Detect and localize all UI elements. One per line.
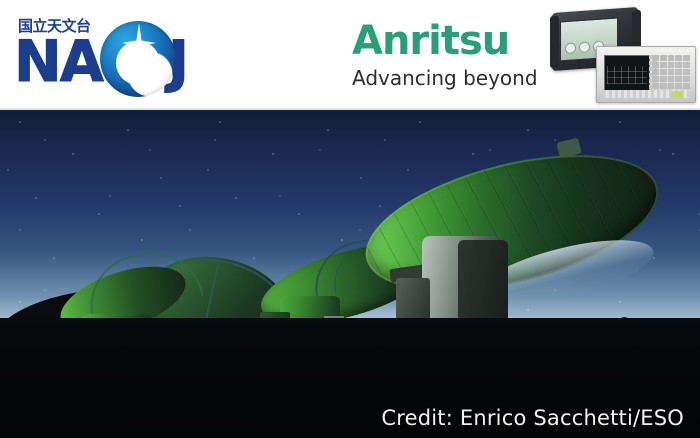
bench-key xyxy=(660,62,667,68)
bench-keypad xyxy=(652,55,690,89)
anritsu-logo[interactable]: Anritsu Advancing beyond xyxy=(352,20,542,90)
bench-key xyxy=(683,69,690,75)
bench-key xyxy=(652,76,659,82)
handheld-dial-2 xyxy=(579,41,590,53)
bench-key xyxy=(652,55,659,61)
bench-key xyxy=(675,76,682,82)
bench-key xyxy=(668,83,675,89)
logo-header-bar: 国立天文台 NAJ Anritsu Advancing beyond xyxy=(0,0,700,110)
handheld-dial-1 xyxy=(565,42,576,54)
night-sky-telescope-photo: Credit: Enrico Sacchetti/ESO xyxy=(0,110,700,438)
bench-key xyxy=(652,83,659,89)
naoj-wordmark-left: NA xyxy=(14,29,102,95)
anritsu-wordmark: Anritsu xyxy=(352,20,542,62)
bench-key xyxy=(652,62,659,68)
bench-key xyxy=(668,62,675,68)
bench-key xyxy=(675,62,682,68)
bench-key xyxy=(660,83,667,89)
bench-screen xyxy=(604,55,650,91)
naoj-logo[interactable]: 国立天文台 NAJ xyxy=(14,18,224,98)
bench-key xyxy=(660,76,667,82)
bench-key xyxy=(660,55,667,61)
bench-key xyxy=(675,83,682,89)
handheld-bumper-left xyxy=(550,16,559,69)
bench-key xyxy=(683,62,690,68)
bench-key xyxy=(660,69,667,75)
bench-key xyxy=(683,76,690,82)
bench-key xyxy=(675,69,682,75)
product-instruments-image xyxy=(548,8,696,103)
slide-root: 国立天文台 NAJ Anritsu Advancing beyond xyxy=(0,0,700,438)
benchtop-spectrum-analyzer-icon xyxy=(596,46,696,103)
anritsu-tagline: Advancing beyond xyxy=(352,66,542,90)
bench-trace-grid xyxy=(607,66,647,84)
sparkle-star-icon xyxy=(122,23,156,63)
bench-key xyxy=(668,69,675,75)
bench-key xyxy=(652,69,659,75)
photo-credit: Credit: Enrico Sacchetti/ESO xyxy=(381,406,684,430)
bench-key xyxy=(668,55,675,61)
bench-key xyxy=(683,83,690,89)
globe-sparkle-icon xyxy=(100,21,176,97)
bench-key xyxy=(683,55,690,61)
bench-power-button xyxy=(671,91,683,98)
bench-key xyxy=(668,76,675,82)
bench-key xyxy=(675,55,682,61)
